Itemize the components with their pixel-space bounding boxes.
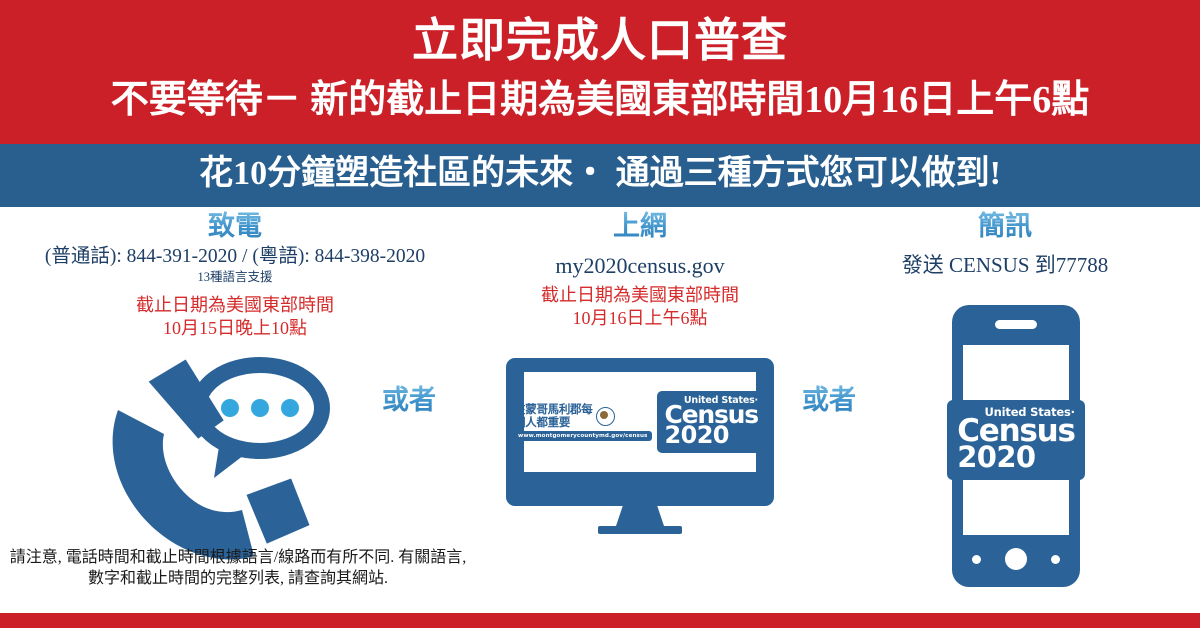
web-title: 上網 xyxy=(470,207,810,244)
web-url[interactable]: my2020census.gov xyxy=(470,252,810,280)
column-call: 致電 (普通話): 844-391-2020 / (粵語): 844-398-2… xyxy=(0,207,470,340)
column-text-message: 簡訊 發送 CENSUS 到77788 xyxy=(810,207,1200,278)
monitor-neck xyxy=(616,506,664,526)
telephone-icon xyxy=(96,348,336,563)
census-logo-phone: United States· Census 2020 xyxy=(947,400,1085,480)
call-deadline-line1: 截止日期為美國東部時間 xyxy=(0,294,470,317)
phone-left-dot xyxy=(972,555,981,564)
column-web: 上網 my2020census.gov 截止日期為美國東部時間 10月16日上午… xyxy=(470,207,810,330)
headline: 立即完成人口普查 xyxy=(0,16,1200,66)
web-deadline-line2: 10月16日上午6點 xyxy=(470,307,810,330)
phone-speaker xyxy=(995,320,1037,329)
desktop-monitor-icon: 在蒙哥馬利郡每 個人都重要 www.montgomerycountymd.gov… xyxy=(506,358,774,538)
mobile-phone-icon: United States· Census 2020 xyxy=(952,305,1080,587)
census-poster: 立即完成人口普查 不要等待－ 新的截止日期為美國東部時間10月16日上午6點 花… xyxy=(0,0,1200,628)
bottom-red-band xyxy=(0,613,1200,628)
call-phone-numbers: (普通話): 844-391-2020 / (粵語): 844-398-2020 xyxy=(0,245,470,269)
call-deadline-line2: 10月15日晚上10點 xyxy=(0,317,470,340)
subheadline: 不要等待－ 新的截止日期為美國東部時間10月16日上午6點 xyxy=(0,80,1200,122)
footnote: 請注意, 電話時間和截止時間根據語言/線路而有所不同. 有關語言, 數字和截止時… xyxy=(8,547,468,589)
or-separator-2: 或者 xyxy=(802,378,856,417)
monitor-slogan: 在蒙哥馬利郡每 個人都重要 xyxy=(514,403,592,429)
or-separator-1: 或者 xyxy=(382,378,436,417)
monitor-banner-left: 在蒙哥馬利郡每 個人都重要 www.montgomerycountymd.gov… xyxy=(514,403,651,441)
web-deadline: 截止日期為美國東部時間 10月16日上午6點 xyxy=(470,279,810,330)
monitor-body: 在蒙哥馬利郡每 個人都重要 www.montgomerycountymd.gov… xyxy=(506,358,774,506)
phone-home-button xyxy=(1005,548,1027,570)
census-logo-monitor: United States· Census 2020 xyxy=(657,391,766,454)
monitor-screen: 在蒙哥馬利郡每 個人都重要 www.montgomerycountymd.gov… xyxy=(524,372,756,472)
phone-right-dot xyxy=(1051,555,1060,564)
call-languages-note: 13種語言支援 xyxy=(0,270,470,286)
web-deadline-line1: 截止日期為美國東部時間 xyxy=(470,284,810,307)
text-title: 簡訊 xyxy=(810,207,1200,244)
monitor-url: www.montgomerycountymd.gov/census xyxy=(514,431,651,441)
monitor-slogan-line2: 個人都重要 xyxy=(514,416,592,429)
county-seal-icon xyxy=(596,407,615,426)
monitor-slogan-row: 在蒙哥馬利郡每 個人都重要 xyxy=(514,403,615,429)
call-title: 致電 xyxy=(0,207,470,244)
blue-band-text: 花10分鐘塑造社區的未來‧ 通過三種方式您可以做到! xyxy=(0,154,1200,195)
phone-screen: United States· Census 2020 xyxy=(963,345,1069,535)
text-instruction: 發送 CENSUS 到77788 xyxy=(810,252,1200,278)
call-deadline: 截止日期為美國東部時間 10月15日晚上10點 xyxy=(0,286,470,340)
monitor-base xyxy=(598,526,682,534)
